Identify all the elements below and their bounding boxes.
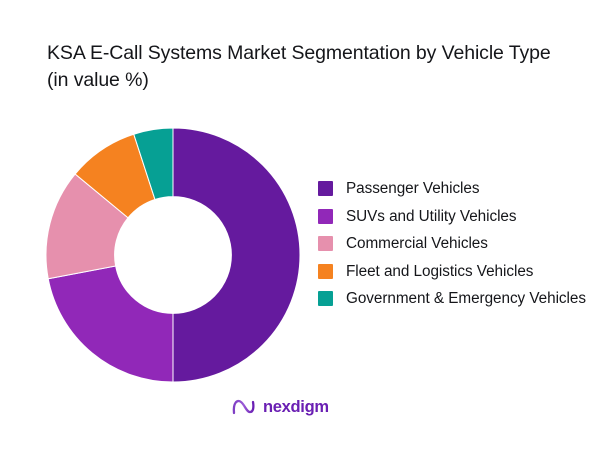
nexdigm-logo: nexdigm: [231, 396, 329, 418]
legend-item-label: Fleet and Logistics Vehicles: [346, 261, 533, 282]
legend-item[interactable]: Government & Emergency Vehicles: [318, 288, 590, 309]
legend-item-label: Commercial Vehicles: [346, 233, 488, 254]
legend-item[interactable]: Passenger Vehicles: [318, 178, 590, 199]
page-title: KSA E-Call Systems Market Segmentation b…: [47, 40, 577, 94]
nexdigm-logo-icon: [231, 396, 256, 418]
donut-slice[interactable]: [173, 128, 300, 382]
donut-slices: [46, 128, 300, 382]
legend-swatch-icon: [318, 209, 333, 224]
nexdigm-wordmark: nexdigm: [263, 398, 329, 417]
chart-page: KSA E-Call Systems Market Segmentation b…: [0, 0, 602, 451]
donut-chart: [46, 128, 300, 382]
donut-chart-svg: [46, 128, 300, 382]
legend-item-label: Government & Emergency Vehicles: [346, 288, 586, 309]
chart-legend: Passenger VehiclesSUVs and Utility Vehic…: [318, 178, 590, 316]
legend-item-label: Passenger Vehicles: [346, 178, 479, 199]
legend-item[interactable]: Commercial Vehicles: [318, 233, 590, 254]
legend-swatch-icon: [318, 291, 333, 306]
legend-item[interactable]: Fleet and Logistics Vehicles: [318, 261, 590, 282]
legend-swatch-icon: [318, 181, 333, 196]
legend-swatch-icon: [318, 264, 333, 279]
legend-swatch-icon: [318, 236, 333, 251]
donut-slice[interactable]: [48, 266, 173, 382]
legend-item[interactable]: SUVs and Utility Vehicles: [318, 206, 590, 227]
legend-item-label: SUVs and Utility Vehicles: [346, 206, 517, 227]
